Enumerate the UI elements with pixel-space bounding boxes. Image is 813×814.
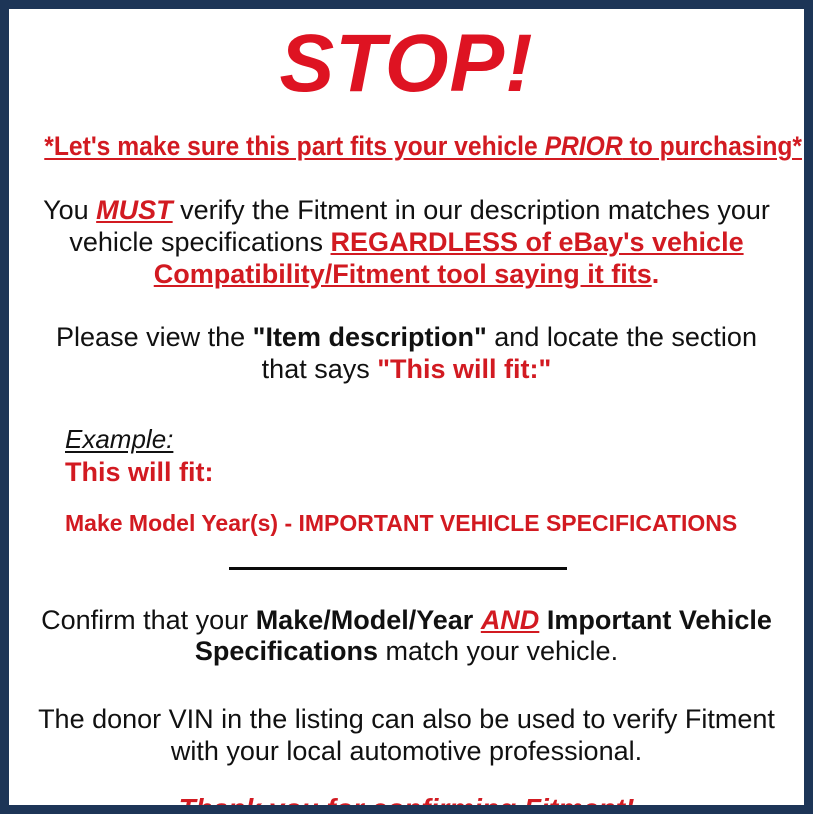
paragraph-donor-vin: The donor VIN in the listing can also be… [17,704,796,768]
closing-thank-you: Thank you for confirming Fitment! [17,794,796,814]
p4-seg2 [473,605,481,635]
subtitle-tail: to purchasing* [623,131,802,161]
example-label: Example: [65,425,173,454]
p4-seg1: Confirm that your [41,605,256,635]
p4-emphasis-and: AND [481,605,540,635]
p4-emphasis-make-model-year: Make/Model/Year [256,605,474,635]
paragraph-confirm-match: Confirm that your Make/Model/Year AND Im… [17,605,796,669]
paragraph-item-description: Please view the "Item description" and l… [17,322,796,386]
fitment-notice-card: STOP! *Let's make sure this part fits yo… [0,0,813,814]
example-block: Example: This will fit: Make Model Year(… [17,425,796,536]
notice-content: STOP! *Let's make sure this part fits yo… [9,23,804,814]
example-label-row: Example: [65,425,796,454]
p1-seg3: . [652,259,660,289]
example-fit-header: This will fit: [65,457,796,488]
p1-emphasis-must: MUST [96,195,173,225]
p4-seg4: match your vehicle. [378,636,618,666]
p2-seg1: Please view the [56,322,253,352]
subtitle-emphasis-prior: PRIOR [545,131,623,161]
subtitle-banner: *Let's make sure this part fits your veh… [44,132,768,161]
p1-seg1: You [43,195,96,225]
p2-emphasis-this-will-fit: "This will fit:" [377,354,551,384]
page-title: STOP! [17,23,796,105]
divider-wrap [17,563,796,577]
p2-emphasis-item-description: "Item description" [253,322,487,352]
example-spec-line: Make Model Year(s) - IMPORTANT VEHICLE S… [65,510,796,536]
subtitle-lead: *Let's make sure this part fits your veh… [44,131,544,161]
horizontal-divider [229,567,567,570]
paragraph-verify-fitment: You MUST verify the Fitment in our descr… [17,195,796,291]
p4-seg3 [539,605,547,635]
